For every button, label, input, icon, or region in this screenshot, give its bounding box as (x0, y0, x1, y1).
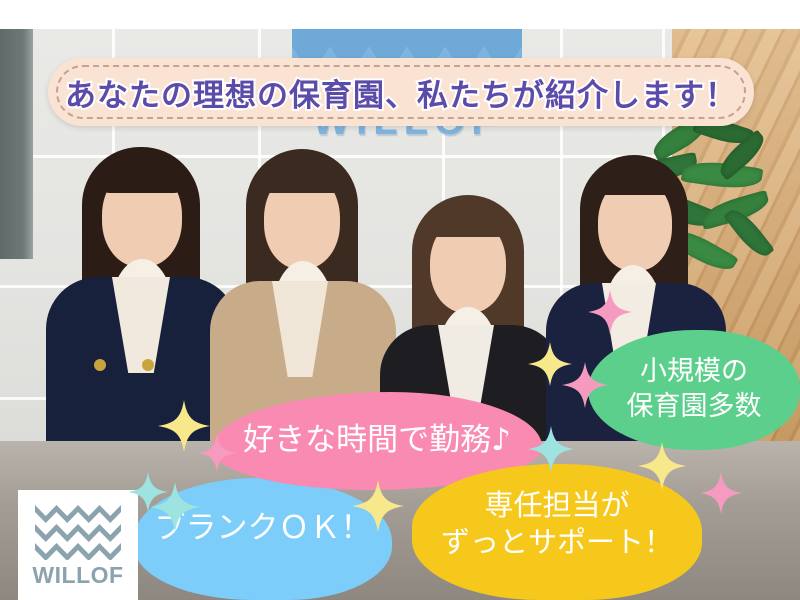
sparkle-icon (588, 288, 632, 336)
bubble-flexible-hours-text: 好きな時間で勤務♪ (243, 421, 511, 461)
bubble-dedicated-support-line1: 専任担当が (484, 488, 629, 522)
headline-banner: あなたの理想の保育園、私たちが紹介します！ (48, 58, 754, 126)
bubble-small-nurseries: 小規模の 保育園多数 (588, 330, 800, 450)
sparkle-icon (198, 432, 236, 474)
banner-headline-text: あなたの理想の保育園、私たちが紹介します！ (48, 58, 754, 126)
sparkle-icon (638, 440, 686, 492)
sparkle-icon (352, 478, 404, 534)
bubble-small-nurseries-line1: 小規模の (640, 356, 748, 387)
wall-shadow-edge (0, 29, 33, 259)
willof-wave-icon (35, 502, 121, 560)
bubble-dedicated-support-line2: ずっとサポート！ (441, 525, 673, 559)
willof-logo: WILLOF (18, 490, 138, 600)
advertisement-banner: WILLOF (0, 0, 800, 600)
bubble-dedicated-support-text: 専任担当が ずっとサポート！ (441, 487, 673, 561)
sparkle-icon (128, 470, 168, 514)
sparkle-icon (562, 360, 608, 410)
willof-wordmark: WILLOF (18, 562, 138, 589)
sparkle-icon (528, 424, 574, 474)
bubble-small-nurseries-text: 小規模の 保育園多数 (627, 355, 762, 424)
bubble-small-nurseries-line2: 保育園多数 (627, 391, 762, 422)
sparkle-icon (700, 470, 742, 516)
